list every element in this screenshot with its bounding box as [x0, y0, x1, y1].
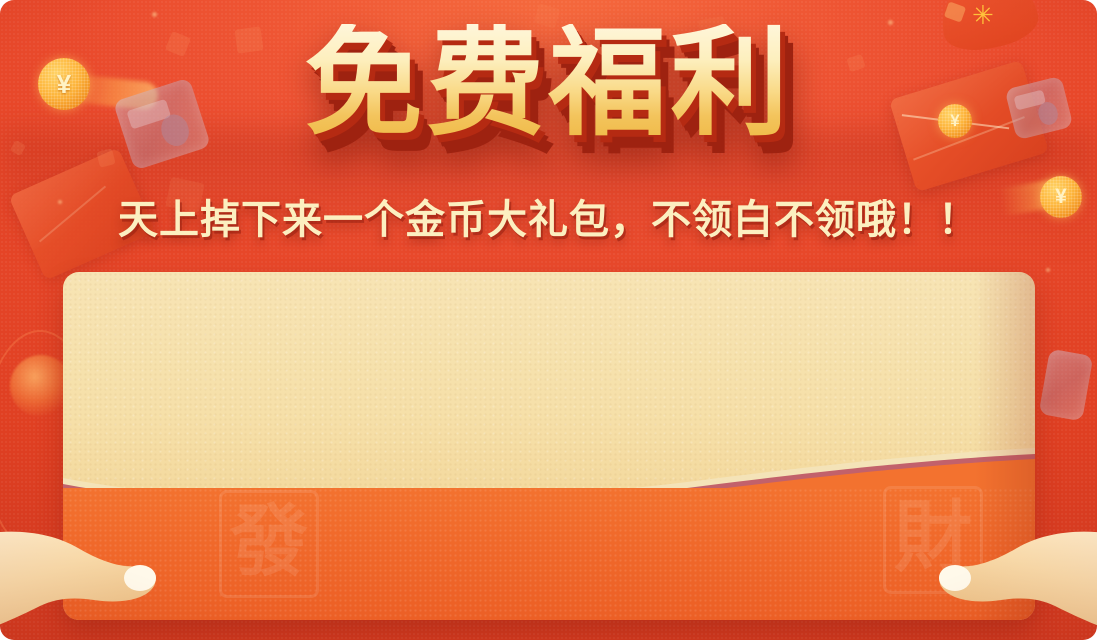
watermark-fa: 發 [219, 490, 319, 598]
red-envelope-card[interactable]: 發 財 [63, 272, 1035, 620]
red-packet-right-lower [1039, 349, 1094, 422]
promo-banner: ¥ ✳ ¥ ¥ [0, 0, 1097, 640]
sparkle [1046, 268, 1050, 272]
watermark-cai: 財 [883, 486, 983, 594]
banner-subtitle: 天上掉下来一个金币大礼包，不领白不领哦！！ [0, 198, 1097, 242]
confetti-square [96, 148, 115, 167]
envelope-inner-shadow [975, 272, 1035, 620]
sparkle [152, 12, 157, 17]
banner-title: 免费福利 [0, 24, 1097, 142]
envelope-content-area [63, 272, 1035, 452]
confetti-square [944, 1, 966, 22]
confetti-square [10, 140, 26, 156]
